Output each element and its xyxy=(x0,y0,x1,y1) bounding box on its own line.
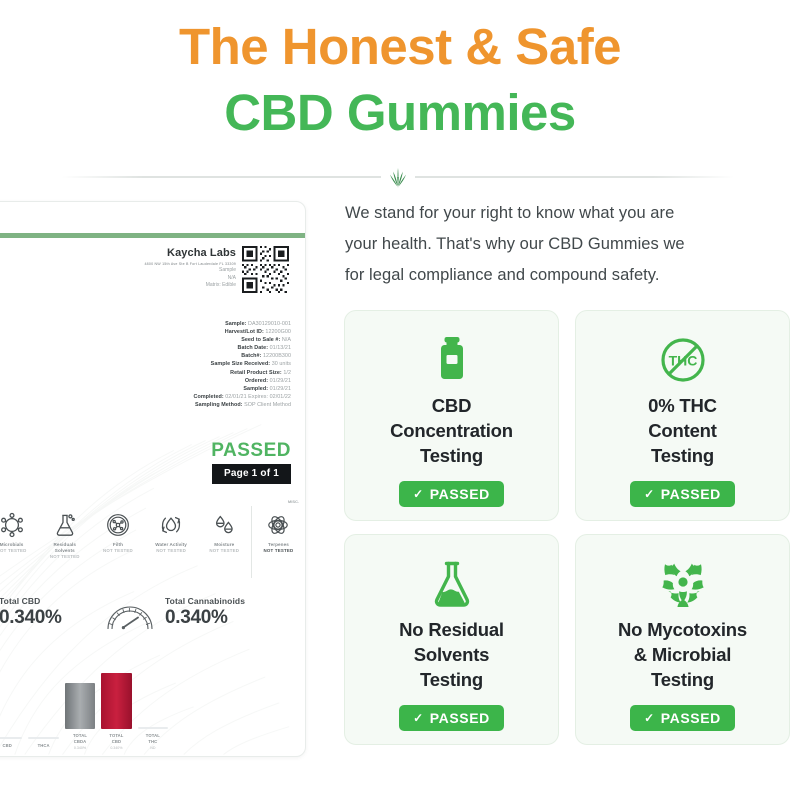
intro-line-2: your health. That's why our CBD Gummies … xyxy=(345,229,800,260)
report-header: Kaycha Labs 4800 NW 15th Ave Ste B Fort … xyxy=(93,246,289,293)
check-icon: ✓ xyxy=(644,712,655,724)
total-cannabinoids-value: 0.340% xyxy=(165,607,245,629)
card-cbd-concentration-testing[interactable]: CBD Concentration Testing ✓ PASSED xyxy=(344,310,559,521)
total-cbd-block: Total CBD 0.340% xyxy=(0,596,62,629)
meta-row: Harvest/Lot ID: 12200G00 xyxy=(81,328,291,336)
card-icon-wrap: THC xyxy=(659,333,707,387)
total-cbd-label: Total CBD xyxy=(0,596,62,606)
qr-code-icon[interactable] xyxy=(242,246,289,293)
badge-label: PASSED xyxy=(430,710,490,726)
badge-label: PASSED xyxy=(661,710,721,726)
panel-status: NOT TESTED xyxy=(264,548,294,554)
bar-column: TOTAL THC ND xyxy=(135,654,171,750)
page-title-line-1: The Honest & Safe xyxy=(0,14,800,80)
intro-line-3: for legal compliance and compound safety… xyxy=(345,260,800,291)
card-icon-wrap xyxy=(432,333,472,387)
intro-paragraph: We stand for your right to know what you… xyxy=(345,198,800,291)
bar-value: 0.340% xyxy=(74,746,86,750)
meta-row: Completed: 02/01/21 Expires: 02/01/22 xyxy=(81,393,291,401)
erlenmeyer-flask-icon xyxy=(430,559,474,609)
flask-icon xyxy=(52,512,78,538)
status-badge-passed: ✓ PASSED xyxy=(630,481,735,507)
page-title-line-2: CBD Gummies xyxy=(0,80,800,146)
intro-line-1: We stand for your right to know what you… xyxy=(345,198,800,229)
bottle-icon xyxy=(432,335,472,385)
badge-label: PASSED xyxy=(430,486,490,502)
misc-tag: MISC. xyxy=(288,499,299,504)
meta-row: Sampled: 01/29/21 xyxy=(81,385,291,393)
bar-value: ND xyxy=(150,746,155,750)
report-top-bar xyxy=(0,233,305,238)
bar-label: TOTAL CBDA xyxy=(73,733,87,744)
filth-icon xyxy=(105,512,131,538)
bar-label: CBD xyxy=(3,743,12,749)
cannabinoid-bar-chart: CBD THCA TOTAL CBDA 0.340% TOTAL CBD 0.3… xyxy=(0,654,171,750)
card-thc-content-testing[interactable]: THC 0% THC Content Testing ✓ PASSED xyxy=(575,310,790,521)
report-status-passed: PASSED xyxy=(211,440,291,462)
bar-column: TOTAL CBDA 0.340% xyxy=(62,654,98,750)
section-divider xyxy=(62,176,734,178)
water-activity-icon xyxy=(158,512,184,538)
badge-label: PASSED xyxy=(661,486,721,502)
report-metadata-list: Sample: DA30129010-001 Harvest/Lot ID: 1… xyxy=(81,320,291,409)
panel-residual-solvents: Residuals Solvents NOT TESTED xyxy=(38,506,91,578)
card-residual-solvents-testing[interactable]: No Residual Solvents Testing ✓ PASSED xyxy=(344,534,559,745)
no-thc-icon: THC xyxy=(659,336,707,384)
sample-type: Sample xyxy=(144,267,236,275)
cannabis-leaf-icon xyxy=(381,160,415,192)
page-root: The Honest & Safe CBD Gummies xyxy=(0,0,800,800)
biohazard-icon xyxy=(659,561,707,607)
bar-column: CBD xyxy=(0,654,25,750)
total-cannabinoids-block: Total Cannabinoids 0.340% xyxy=(165,596,245,629)
bar-label: TOTAL CBD xyxy=(109,733,123,744)
bar-column: THCA xyxy=(25,654,61,750)
meta-row: Sample: DA30129010-001 xyxy=(81,320,291,328)
lab-name: Kaycha Labs xyxy=(144,247,236,259)
meta-row: Retail Product Size: 1/2 xyxy=(81,369,291,377)
panel-microbials: Microbials NOT TESTED xyxy=(0,506,38,578)
panel-filth: Filth NOT TESTED xyxy=(91,506,144,578)
moisture-icon xyxy=(211,512,237,538)
check-icon: ✓ xyxy=(413,712,424,724)
panel-status: NOT TESTED xyxy=(209,548,239,554)
panel-moisture: Moisture NOT TESTED xyxy=(198,506,251,578)
lab-report-document[interactable]: Kaycha Labs 4800 NW 15th Ave Ste B Fort … xyxy=(0,201,306,757)
panel-label: Residuals Solvents xyxy=(53,542,76,554)
sample-na: N/A xyxy=(144,275,236,283)
meta-row: Batch Date: 01/13/21 xyxy=(81,344,291,352)
terpenes-icon xyxy=(265,512,291,538)
meta-row: Seed to Sale #: N/A xyxy=(81,336,291,344)
panel-status: NOT TESTED xyxy=(156,548,186,554)
total-cbd-value: 0.340% xyxy=(0,607,62,629)
card-icon-wrap xyxy=(659,557,707,611)
card-title: No Residual Solvents Testing xyxy=(399,617,504,692)
card-icon-wrap xyxy=(430,557,474,611)
meta-row: Batch#: 12200B300 xyxy=(81,352,291,360)
report-panel-strip: Microbials NOT TESTED Residuals Solvents… xyxy=(0,506,305,578)
microbial-icon xyxy=(0,512,25,538)
status-badge-passed: ✓ PASSED xyxy=(399,705,504,731)
bar-value: 0.340% xyxy=(110,746,122,750)
meta-row: Sampling Method: SOP Client Method xyxy=(81,401,291,409)
status-badge-passed: ✓ PASSED xyxy=(630,705,735,731)
card-title: CBD Concentration Testing xyxy=(390,393,513,468)
meta-row: Ordered: 01/29/21 xyxy=(81,377,291,385)
card-mycotoxins-microbial-testing[interactable]: No Mycotoxins & Microbial Testing ✓ PASS… xyxy=(575,534,790,745)
report-page-indicator: Page 1 of 1 xyxy=(212,464,291,484)
testing-cards-grid: CBD Concentration Testing ✓ PASSED THC 0… xyxy=(344,310,800,745)
check-icon: ✓ xyxy=(644,488,655,500)
bar-column: TOTAL CBD 0.340% xyxy=(98,654,134,750)
card-title: No Mycotoxins & Microbial Testing xyxy=(618,617,747,692)
panel-status: NOT TESTED xyxy=(50,554,80,560)
meta-row: Sample Size Received: 30 units xyxy=(81,360,291,368)
check-icon: ✓ xyxy=(413,488,424,500)
status-badge-passed: ✓ PASSED xyxy=(399,481,504,507)
panel-water-activity: Water Activity NOT TESTED xyxy=(145,506,198,578)
panel-status: NOT TESTED xyxy=(0,548,26,554)
report-totals: Total CBD 0.340% Total Cannabinoids 0.34… xyxy=(0,592,305,654)
report-lab-info: Kaycha Labs 4800 NW 15th Ave Ste B Fort … xyxy=(144,246,236,293)
page-header: The Honest & Safe CBD Gummies xyxy=(0,14,800,146)
bar-label: THCA xyxy=(38,743,50,749)
card-title: 0% THC Content Testing xyxy=(648,393,717,468)
panel-terpenes: MISC. Terpenes NOT TESTED xyxy=(251,506,305,578)
panel-status: NOT TESTED xyxy=(103,548,133,554)
sample-matrix: Matrix: Edible xyxy=(144,282,236,290)
total-cannabinoids-label: Total Cannabinoids xyxy=(165,596,245,606)
gauge-icon xyxy=(103,598,157,640)
bar-label: TOTAL THC xyxy=(146,733,160,744)
